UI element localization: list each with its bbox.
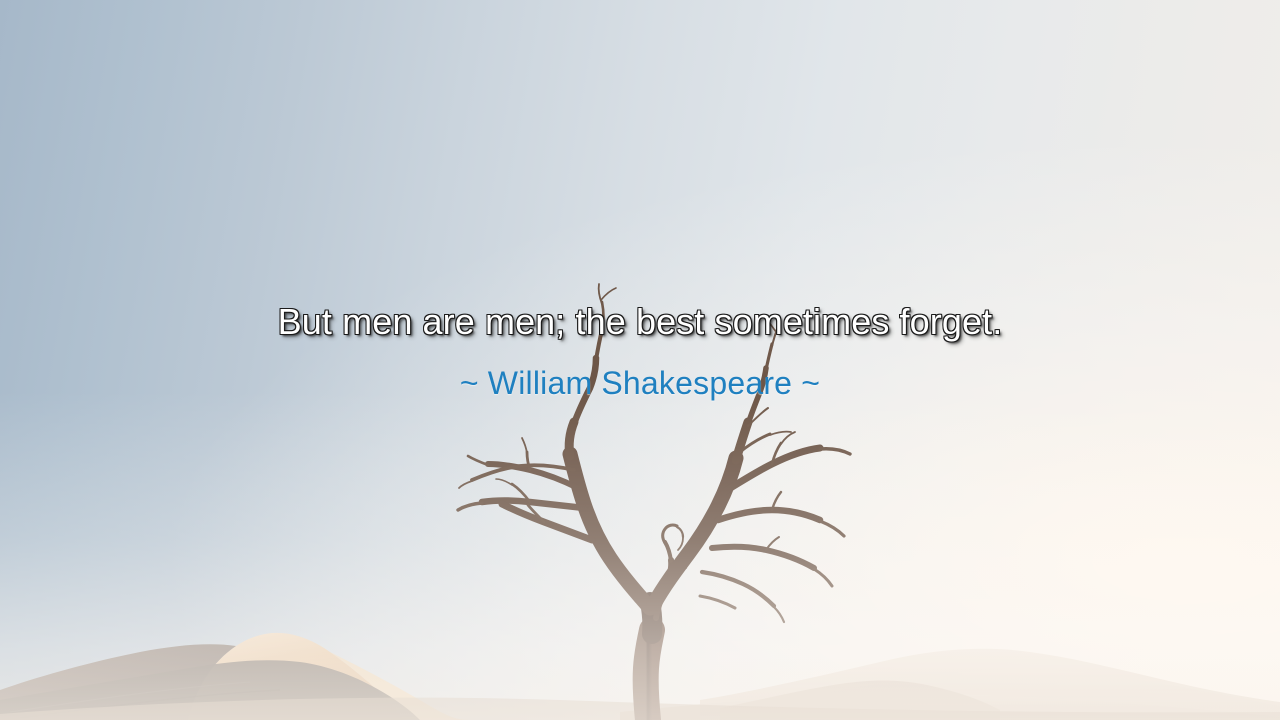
background-photo (0, 0, 1280, 720)
atmospheric-haze (0, 390, 1280, 720)
quote-card: But men are men; the best sometimes forg… (0, 0, 1280, 720)
